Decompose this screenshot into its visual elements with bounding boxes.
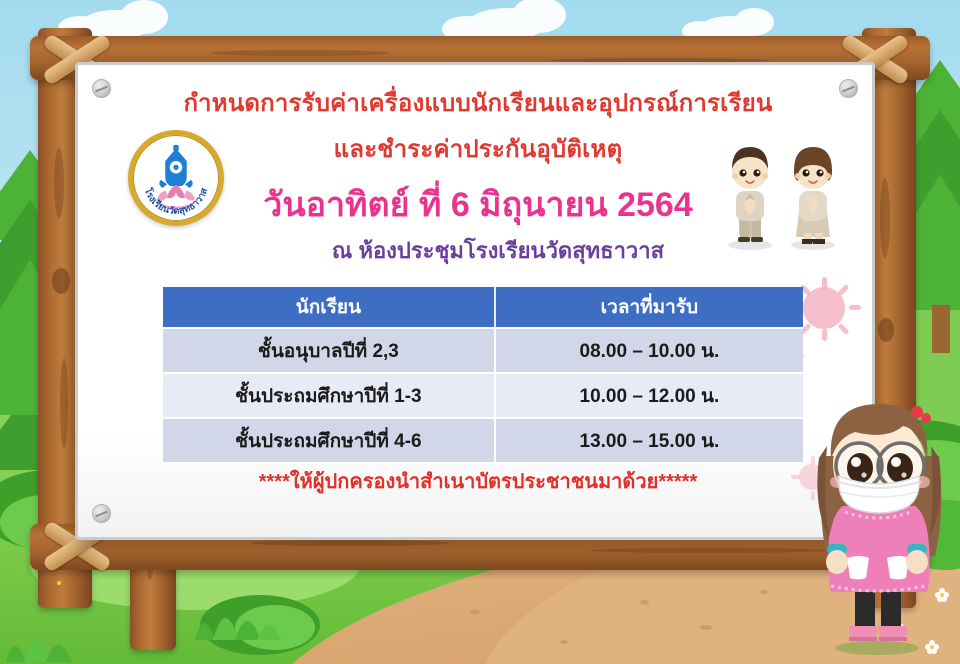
- column-header-student: นักเรียน: [163, 287, 496, 329]
- screw-icon: [92, 79, 111, 98]
- column-header-time: เวลาที่มารับ: [496, 287, 803, 329]
- path-speck: [760, 590, 768, 594]
- thai-couple-wai-icon: [708, 133, 858, 253]
- cell-student-group: ชั้นประถมศึกษาปีที่ 4-6: [163, 419, 496, 464]
- path-speck: [470, 610, 480, 614]
- cell-pickup-time: 08.00 – 10.00 น.: [496, 329, 803, 374]
- headline-line-1: กำหนดการรับค่าเครื่องแบบนักเรียนและอุปกร…: [118, 89, 838, 119]
- screw-icon: [839, 79, 858, 98]
- school-logo: โรงเรียนวัดสุทธาวาส: [128, 130, 224, 226]
- announcement-board: โรงเรียนวัดสุทธาวาส กำหนดการรับค่าเครื่อ…: [75, 62, 875, 540]
- table-row: ชั้นประถมศึกษาปีที่ 4-6 13.00 – 15.00 น.: [163, 419, 803, 464]
- girl-with-mask-icon: [795, 390, 960, 655]
- cell-student-group: ชั้นประถมศึกษาปีที่ 1-3: [163, 374, 496, 419]
- grass-tuft-icon: [185, 582, 305, 642]
- table-header-row: นักเรียน เวลาที่มารับ: [163, 287, 803, 329]
- logo-emblem: โรงเรียนวัดสุทธาวาส: [133, 135, 219, 221]
- grass-tuft-icon: [0, 610, 110, 664]
- cell-pickup-time: 13.00 – 15.00 น.: [496, 419, 803, 464]
- path-speck: [700, 625, 712, 630]
- footnote-text: ****ให้ผู้ปกครองนำสำเนาบัตรประชาชนมาด้วย…: [118, 465, 838, 497]
- screw-icon: [92, 504, 111, 523]
- table-row: ชั้นประถมศึกษาปีที่ 1-3 10.00 – 12.00 น.: [163, 374, 803, 419]
- cell-student-group: ชั้นอนุบาลปีที่ 2,3: [163, 329, 496, 374]
- schedule-table: นักเรียน เวลาที่มารับ ชั้นอนุบาลปีที่ 2,…: [163, 287, 803, 464]
- path-speck: [560, 640, 568, 644]
- path-speck: [640, 600, 649, 605]
- cell-pickup-time: 10.00 – 12.00 น.: [496, 374, 803, 419]
- table-row: ชั้นอนุบาลปีที่ 2,3 08.00 – 10.00 น.: [163, 329, 803, 374]
- poster-scene: โรงเรียนวัดสุทธาวาส กำหนดการรับค่าเครื่อ…: [0, 0, 960, 664]
